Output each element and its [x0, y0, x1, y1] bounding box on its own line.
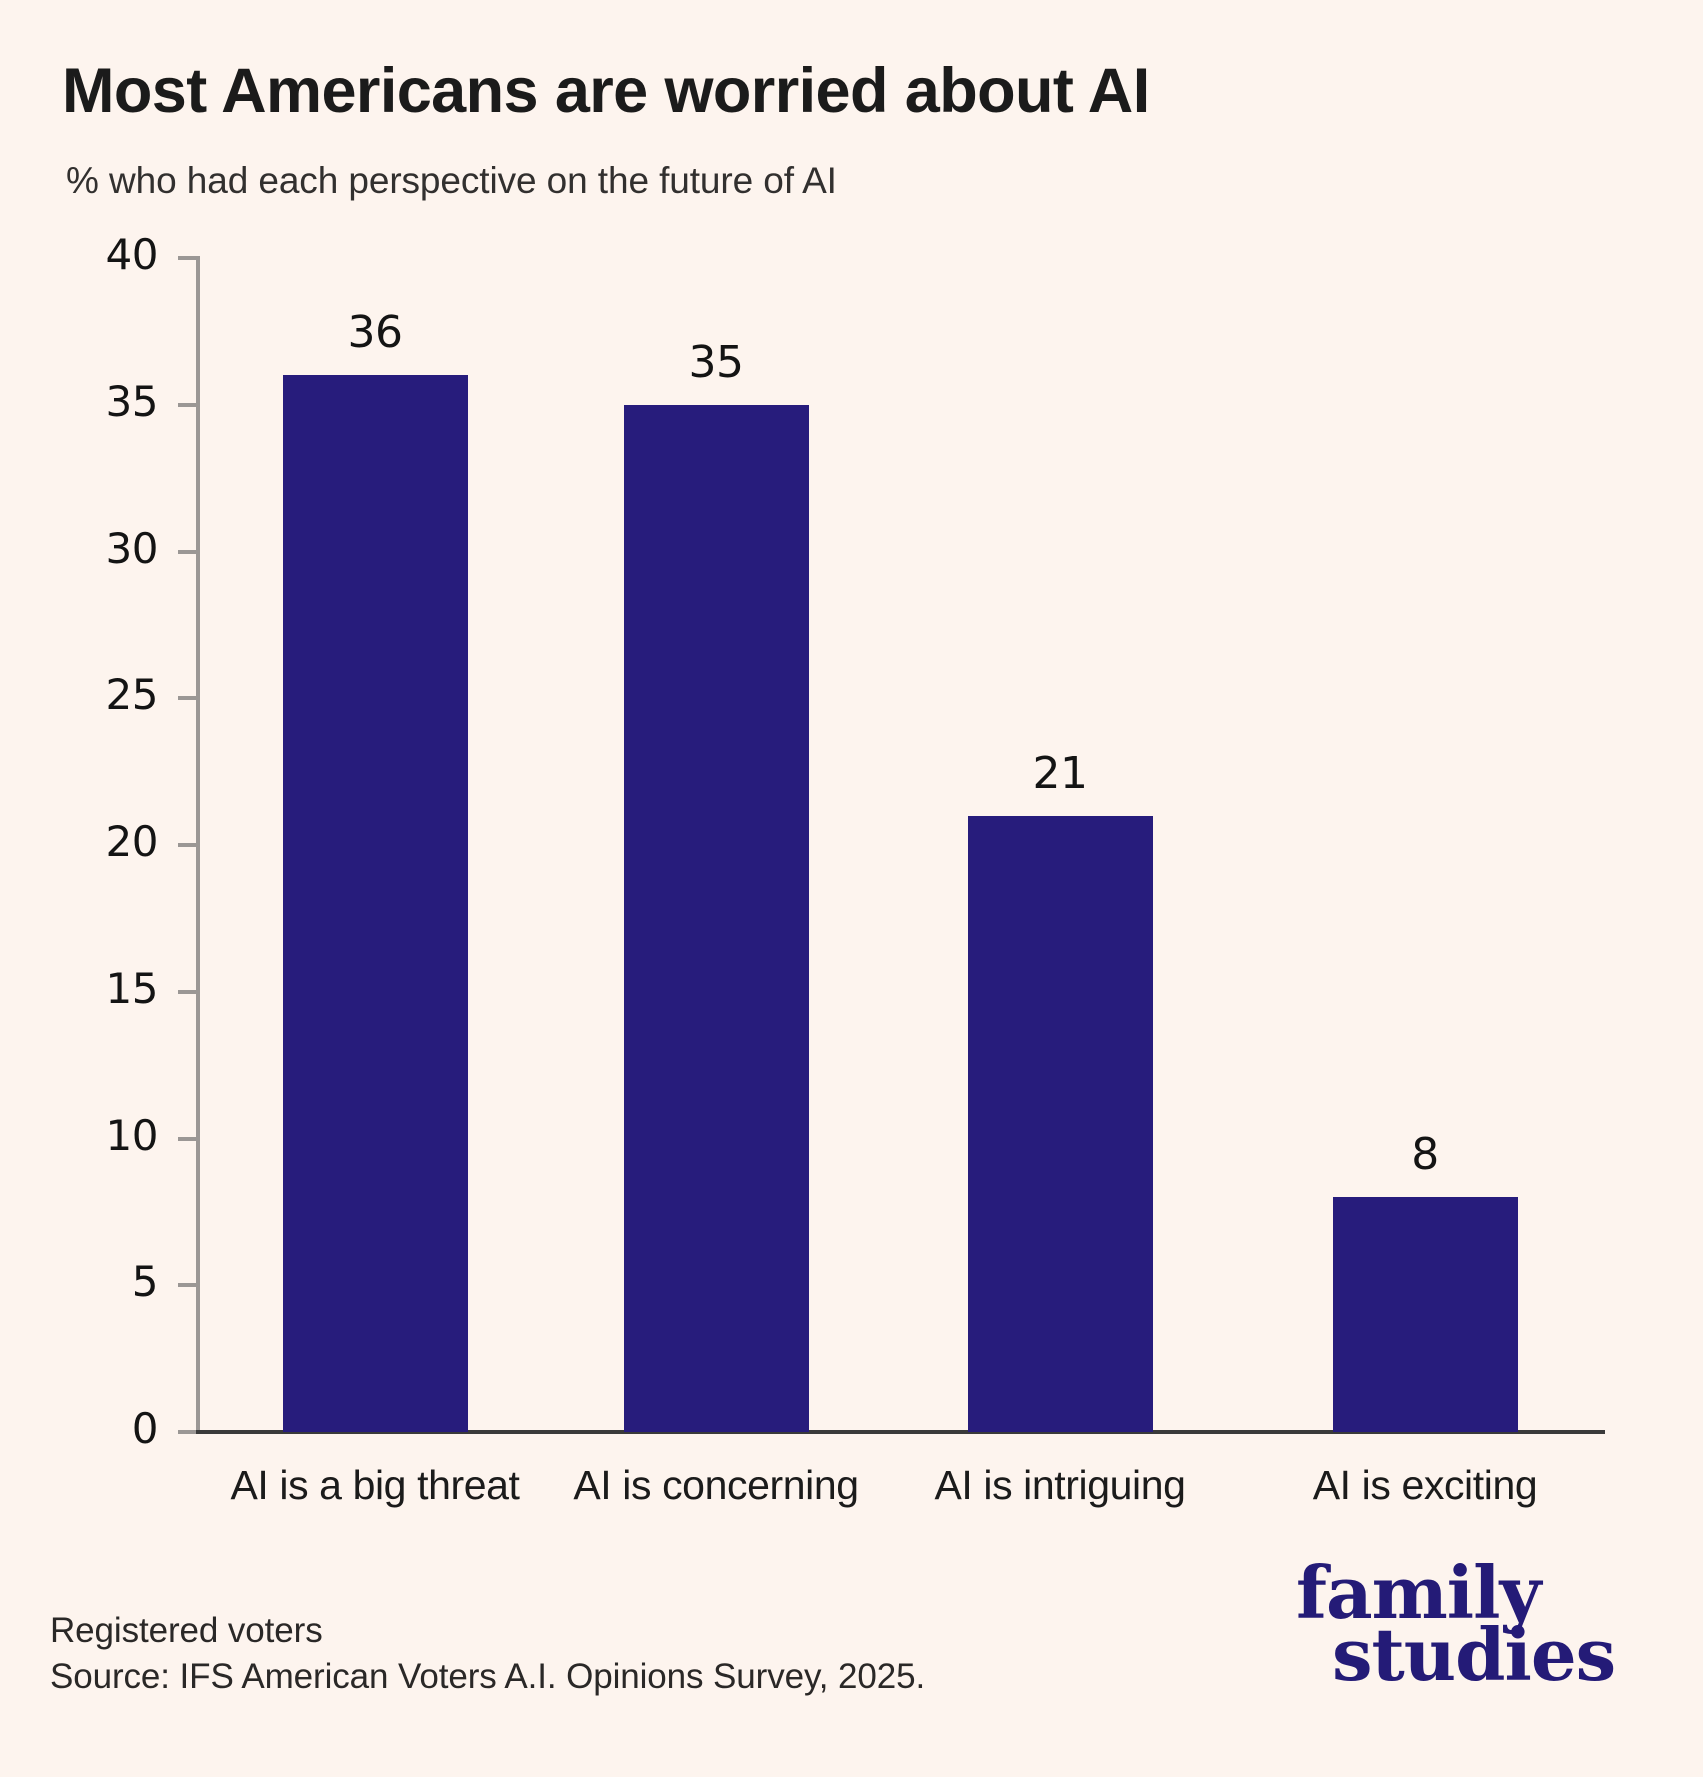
footer-population: Registered voters	[50, 1608, 925, 1654]
y-axis-tick-label: 40	[38, 230, 158, 279]
logo-line-studies: studies	[1286, 1624, 1616, 1686]
y-axis-tick-label: 5	[38, 1257, 158, 1306]
bar[interactable]	[1333, 1197, 1518, 1432]
y-axis-line	[196, 256, 200, 1434]
y-axis-tick-mark	[178, 696, 196, 700]
bar-value-label: 36	[265, 307, 485, 358]
y-axis-tick-mark	[178, 403, 196, 407]
y-axis-tick-mark	[178, 550, 196, 554]
y-axis-tick-label: 35	[38, 377, 158, 426]
y-axis-tick-label: 20	[38, 817, 158, 866]
y-axis-tick-mark	[178, 256, 196, 260]
y-axis-tick-label: 0	[38, 1404, 158, 1453]
bar[interactable]	[968, 816, 1153, 1432]
y-axis-tick-mark	[178, 1137, 196, 1141]
x-axis-category-label: AI is exciting	[1175, 1462, 1675, 1509]
y-axis-tick-mark	[178, 990, 196, 994]
plot-area: 051015202530354036AI is a big threat35AI…	[0, 0, 1703, 1777]
family-studies-logo: family studies	[1286, 1562, 1616, 1686]
y-axis-tick-label: 30	[38, 524, 158, 573]
y-axis-tick-mark	[178, 843, 196, 847]
y-axis-tick-label: 15	[38, 964, 158, 1013]
bar-value-label: 35	[606, 337, 826, 388]
footer-source: Source: IFS American Voters A.I. Opinion…	[50, 1654, 925, 1700]
bar[interactable]	[283, 375, 468, 1432]
bar[interactable]	[624, 405, 809, 1432]
bar-value-label: 8	[1315, 1129, 1535, 1180]
y-axis-tick-label: 25	[38, 670, 158, 719]
bar-value-label: 21	[950, 748, 1170, 799]
y-axis-tick-mark	[178, 1430, 196, 1434]
y-axis-tick-mark	[178, 1283, 196, 1287]
y-axis-tick-label: 10	[38, 1111, 158, 1160]
chart-canvas: Most Americans are worried about AI % wh…	[0, 0, 1703, 1777]
footer-note: Registered voters Source: IFS American V…	[50, 1608, 925, 1700]
